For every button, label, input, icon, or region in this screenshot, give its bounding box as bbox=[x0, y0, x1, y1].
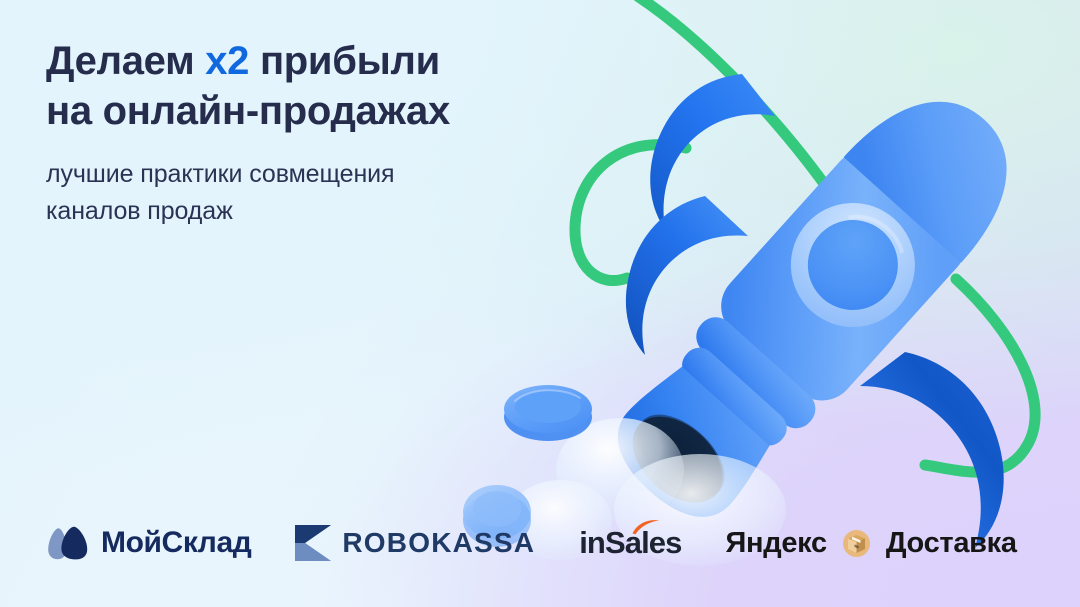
robokassa-square-icon bbox=[295, 525, 331, 561]
copy-block: Делаем x2 прибылина онлайн-продажах лучш… bbox=[46, 36, 626, 230]
yandex-wordmark: Яндекс bbox=[725, 527, 826, 560]
robokassa-wordmark: ROBOKASSA bbox=[342, 527, 535, 559]
insales-swoosh-icon bbox=[631, 518, 661, 535]
headline-accent: x2 bbox=[205, 39, 249, 83]
moysklad-mountains-icon bbox=[44, 526, 90, 560]
page-title: Делаем x2 прибылина онлайн-продажах bbox=[46, 36, 626, 136]
moysklad-wordmark: МойСклад bbox=[101, 526, 251, 560]
headline-prefix: Делаем bbox=[46, 39, 205, 83]
marketing-banner: Делаем x2 прибылина онлайн-продажах лучш… bbox=[0, 0, 1080, 607]
partner-logo-yandex-delivery: Яндекс Доставка bbox=[725, 527, 1016, 560]
headline-line2: на онлайн-продажах bbox=[46, 89, 450, 133]
parcel-box-icon bbox=[843, 530, 870, 557]
partner-logo-robokassa: ROBOKASSA bbox=[295, 525, 535, 561]
floating-disc-large bbox=[504, 385, 592, 441]
partner-logo-insales: inSales bbox=[579, 525, 681, 561]
headline-suffix: прибыли bbox=[249, 39, 440, 83]
partner-logo-moysklad: МойСклад bbox=[44, 526, 251, 560]
partner-logo-strip: МойСклад ROBOKASSA inSales Яндекс bbox=[44, 525, 1017, 561]
page-subtitle: лучшие практики совмещения каналов прода… bbox=[46, 156, 626, 230]
dostavka-wordmark: Доставка bbox=[886, 527, 1017, 560]
